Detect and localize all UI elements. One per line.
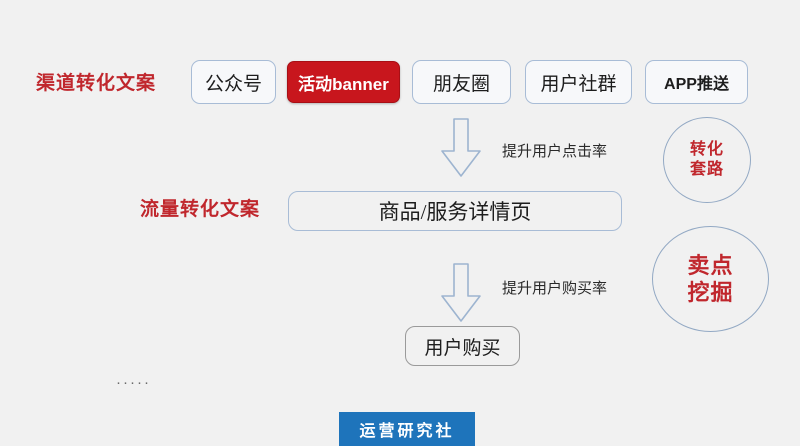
down-block-arrow-icon-1 xyxy=(439,118,483,183)
down-block-arrow-icon-2 xyxy=(439,263,483,328)
channel-chip-pengyouquan[interactable]: 朋友圈 xyxy=(412,60,511,104)
circle-selling-line2: 挖掘 xyxy=(687,279,733,307)
channel-chip-activity-banner[interactable]: 活动banner xyxy=(287,61,400,103)
channel-chip-app-push[interactable]: APP推送 xyxy=(645,60,748,104)
footer-brand-banner: 运营研究社 xyxy=(339,412,475,446)
channel-chip-gongzhonghao[interactable]: 公众号 xyxy=(191,60,276,104)
channel-chip-user-community[interactable]: 用户社群 xyxy=(525,60,632,104)
ellipsis-dots: ····· xyxy=(116,374,151,391)
circle-conversion-line2: 套路 xyxy=(690,160,724,180)
circle-conversion-tactics[interactable]: 转化 套路 xyxy=(663,117,751,203)
circle-conversion-line1: 转化 xyxy=(690,140,724,160)
section-label-traffic-copy: 流量转化文案 xyxy=(140,194,260,221)
slide-canvas: 渠道转化文案 流量转化文案 公众号 活动banner 朋友圈 用户社群 APP推… xyxy=(0,0,800,446)
arrow-caption-purchase-rate: 提升用户购买率 xyxy=(502,277,607,298)
arrow-caption-click-rate: 提升用户点击率 xyxy=(502,140,607,161)
flow-box-user-purchase[interactable]: 用户购买 xyxy=(405,326,520,366)
section-label-channel-copy: 渠道转化文案 xyxy=(36,68,156,95)
flow-box-detail-page[interactable]: 商品/服务详情页 xyxy=(288,191,622,231)
circle-selling-line1: 卖点 xyxy=(687,252,733,280)
circle-selling-point-mining[interactable]: 卖点 挖掘 xyxy=(652,226,769,332)
